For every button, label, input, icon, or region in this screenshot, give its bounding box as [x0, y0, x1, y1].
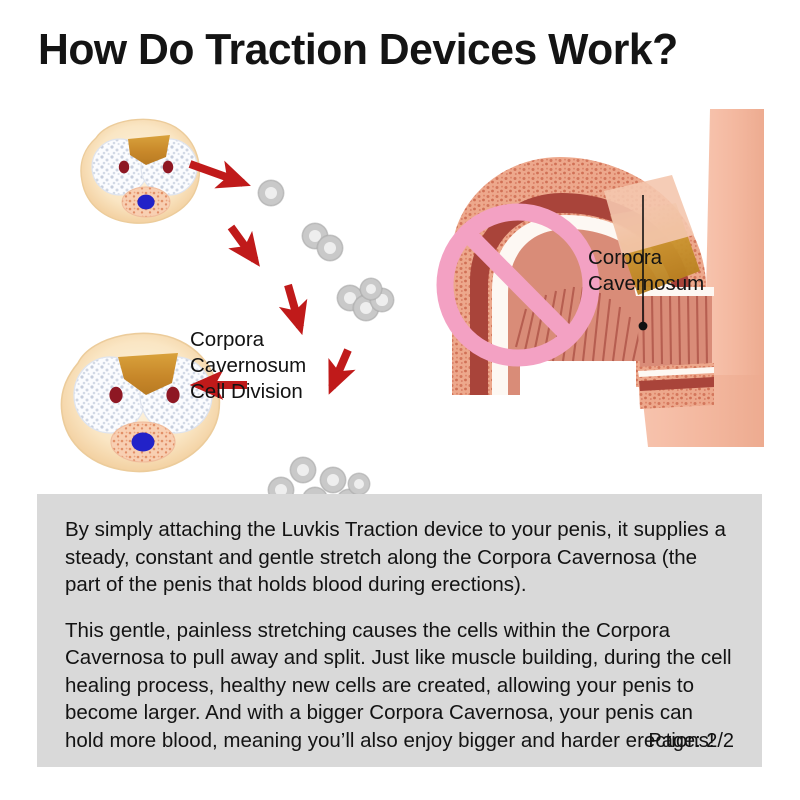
red-arrow-icon — [231, 227, 255, 260]
description-panel: By simply attaching the Luvkis Traction … — [37, 494, 762, 767]
page-indicator: Page: 2/2 — [648, 730, 734, 753]
label-corpora-cavernosum: Corpora Cavernosum — [588, 245, 704, 297]
red-arrow-icon — [332, 350, 348, 387]
corpora-cavernosa-striped-lower — [636, 295, 712, 367]
cell-icon — [360, 278, 382, 300]
red-arrow-icon — [288, 285, 300, 327]
cell-icon — [290, 457, 316, 483]
cell-icon — [258, 180, 284, 206]
page-title: How Do Traction Devices Work? — [38, 26, 678, 74]
paragraph-1: By simply attaching the Luvkis Traction … — [65, 516, 734, 599]
illustration-area: Corpora Cavernosum Cell Division Corpora… — [0, 95, 800, 485]
cell-icon — [348, 473, 370, 495]
cell-icon — [320, 467, 346, 493]
label-corpora-cavernosum-cell-division: Corpora Cavernosum Cell Division — [190, 327, 306, 405]
cell-icon — [317, 235, 343, 261]
paragraph-2: This gentle, painless stretching causes … — [65, 617, 734, 755]
penis-cross-section-small-icon — [81, 119, 199, 223]
